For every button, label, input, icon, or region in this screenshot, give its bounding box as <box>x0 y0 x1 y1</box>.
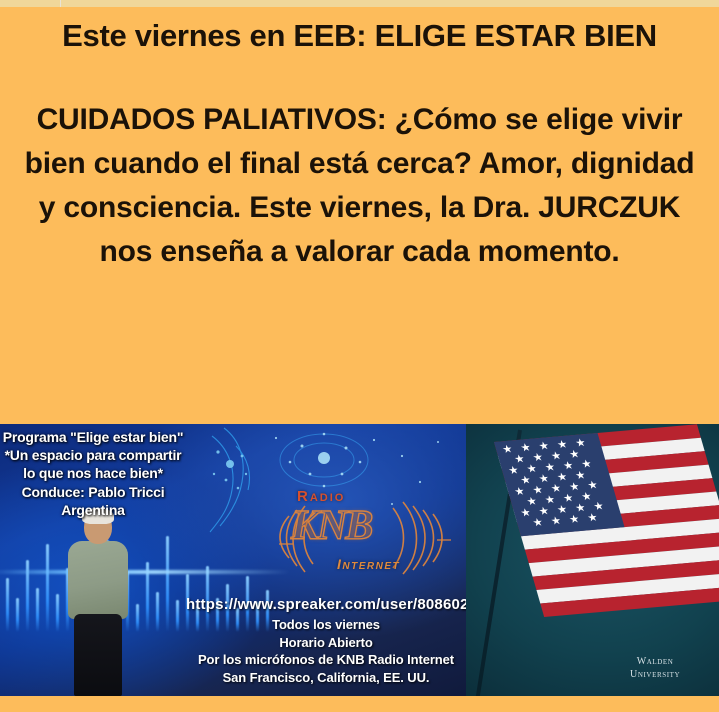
host-torso <box>68 541 128 619</box>
broadcast-details: Todos los viernes Horario Abierto Por lo… <box>186 616 466 686</box>
walden-logo-line-1: Walden <box>637 656 674 667</box>
headline-text: Este viernes en EEB: ELIGE ESTAR BIEN <box>0 18 719 55</box>
walden-university-logo: Walden University <box>630 656 680 681</box>
host-photo <box>62 510 134 696</box>
radio-show-panel: Programa "Elige estar bien" *Un espacio … <box>0 424 466 696</box>
show-credits-line-2: *Un espacio para compartir <box>0 446 186 464</box>
waveform-baseline <box>0 570 290 574</box>
headline-container: Este viernes en EEB: ELIGE ESTAR BIEN <box>0 18 719 55</box>
flag-panel: ★ ★ ★ ★ ★ ★ ★ ★ ★ ★ ★ ★ ★ ★ ★ ★ ★ <box>466 424 719 696</box>
top-edge-notch <box>60 0 61 7</box>
show-credits-line-1: Programa "Elige estar bien" <box>0 428 186 446</box>
us-flag-icon: ★ ★ ★ ★ ★ ★ ★ ★ ★ ★ ★ ★ ★ ★ ★ ★ ★ <box>494 424 719 630</box>
broadcast-detail-1: Todos los viernes <box>186 616 466 634</box>
audio-waveform <box>0 516 290 632</box>
top-edge-strip <box>0 0 719 7</box>
show-credits: Programa "Elige estar bien" *Un espacio … <box>0 428 186 519</box>
body-container: CUIDADOS PALIATIVOS: ¿Cómo se elige vivi… <box>0 98 719 274</box>
show-credits-line-3: lo que nos hace bien* <box>0 464 186 482</box>
walden-logo-line-2: University <box>630 669 680 682</box>
host-legs <box>74 614 122 696</box>
broadcast-detail-4: San Francisco, California, EE. UU. <box>186 669 466 687</box>
show-credits-line-4: Conduce: Pablo Tricci <box>0 483 186 501</box>
body-text: CUIDADOS PALIATIVOS: ¿Cómo se elige vivi… <box>14 98 705 274</box>
stream-url[interactable]: https://www.spreaker.com/user/8086024 <box>186 596 466 613</box>
knb-radio-logo: Radio KNB Internet <box>275 486 460 578</box>
show-credits-line-5: Argentina <box>0 501 186 519</box>
broadcast-detail-2: Horario Abierto <box>186 634 466 652</box>
broadcast-detail-3: Por los micrófonos de KNB Radio Internet <box>186 651 466 669</box>
bottom-edge-strip <box>0 696 719 712</box>
logo-internet-word: Internet <box>337 556 400 572</box>
image-band: Programa "Elige estar bien" *Un espacio … <box>0 424 719 696</box>
poster-image: Este viernes en EEB: ELIGE ESTAR BIEN CU… <box>0 0 719 712</box>
logo-call-sign: KNB <box>291 502 371 550</box>
